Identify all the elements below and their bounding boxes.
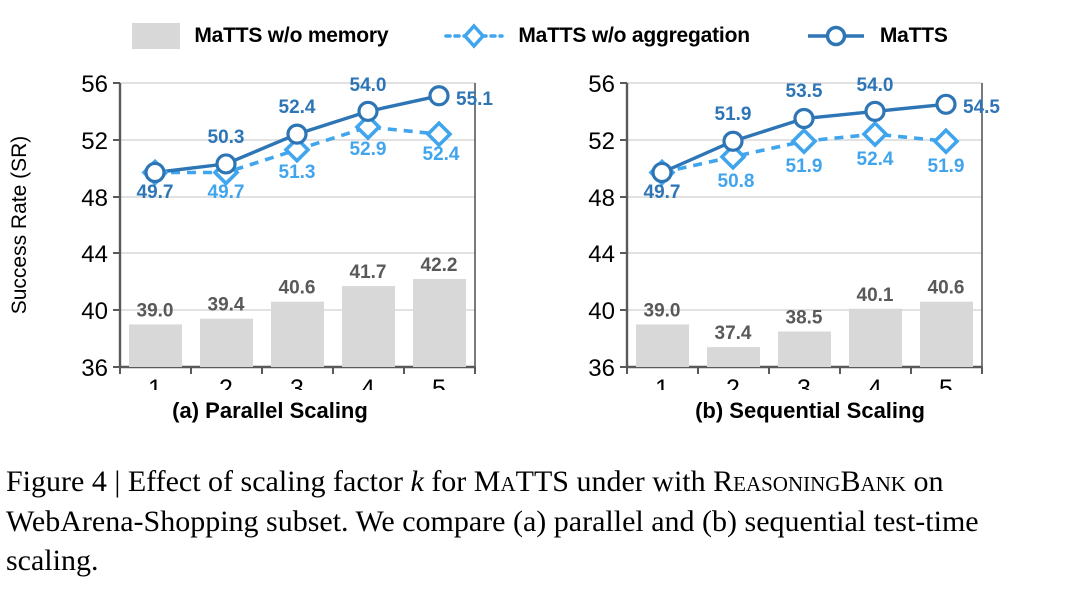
y-tick-48-a: 48 — [81, 185, 108, 212]
diamond-k5-a — [428, 123, 450, 145]
circle-k1-b — [653, 163, 671, 181]
bar-k1-b — [636, 324, 689, 367]
y-tick-40-b: 40 — [588, 298, 615, 325]
x-tick-2-a: 2 — [219, 375, 233, 390]
bar-label-k3-a: 40.6 — [279, 278, 316, 299]
legend-item-matts: MaTTS — [806, 23, 948, 49]
label-matts-k5-b: 54.5 — [963, 97, 1000, 118]
bar-k3-a — [271, 302, 324, 367]
label-matts-k2-a: 50.3 — [208, 127, 245, 148]
diamond-dashed-line-icon — [444, 23, 504, 49]
label-agg-k3-b: 51.9 — [786, 156, 823, 177]
figure-page: MaTTS w/o memory MaTTS w/o aggregation M… — [0, 0, 1080, 614]
legend-item-matts-wo-aggregation: MaTTS w/o aggregation — [444, 23, 749, 49]
x-tick-1-b: 1 — [655, 375, 669, 390]
bar-label-k4-b: 40.1 — [857, 285, 894, 306]
x-tick-4-a: 4 — [361, 375, 375, 390]
y-tick-48-b: 48 — [588, 185, 615, 212]
y-tick-44-b: 44 — [588, 241, 615, 268]
caption-k-variable: k — [410, 465, 423, 498]
bar-label-k5-a: 42.2 — [421, 255, 458, 276]
label-matts-k1-b: 49.7 — [644, 182, 681, 203]
label-agg-k2-b: 50.8 — [718, 171, 755, 192]
circle-k5-b — [937, 95, 955, 113]
circle-k3-a — [288, 125, 306, 143]
x-tick-5-a: 5 — [432, 375, 446, 390]
bar-swatch-icon — [132, 23, 180, 49]
x-tick-labels-a: 1 2 3 4 5 — [148, 375, 446, 390]
y-tick-36-a: 36 — [81, 355, 108, 382]
circle-k5-a — [430, 87, 448, 105]
subplot-title-a: (a) Parallel Scaling — [0, 398, 540, 424]
bar-label-k4-a: 41.7 — [350, 262, 387, 283]
y-tick-56-a: 56 — [81, 71, 108, 98]
label-matts-k3-b: 53.5 — [786, 81, 823, 102]
x-tick-3-a: 3 — [290, 375, 304, 390]
label-agg-k4-b: 52.4 — [857, 149, 894, 170]
line-labels-agg-a: 49.7 51.3 52.9 52.4 — [208, 139, 460, 203]
label-matts-k2-b: 51.9 — [715, 104, 752, 125]
circle-k4-b — [866, 102, 884, 120]
subplot-title-b: (b) Sequential Scaling — [540, 398, 1080, 424]
y-axis-title-a: Success Rate (SR) — [8, 136, 31, 315]
bar-label-k5-b: 40.6 — [928, 278, 965, 299]
circle-k3-b — [795, 110, 813, 128]
label-matts-k4-a: 54.0 — [350, 75, 387, 96]
bar-label-k3-b: 38.5 — [786, 308, 823, 329]
chart-b-canvas: 56 52 48 44 40 36 — [540, 60, 1080, 390]
label-matts-k3-a: 52.4 — [279, 97, 316, 118]
chart-sequential-scaling: 56 52 48 44 40 36 — [540, 60, 1080, 390]
legend-label-matts: MaTTS — [880, 24, 948, 48]
bar-label-k2-a: 39.4 — [208, 295, 245, 316]
bar-k2-b — [707, 347, 760, 367]
caption-matts: MaTTS — [474, 465, 569, 498]
x-tick-5-b: 5 — [939, 375, 953, 390]
bar-label-k2-b: 37.4 — [715, 323, 752, 344]
label-agg-k5-b: 51.9 — [928, 156, 965, 177]
bar-k3-b — [778, 332, 831, 368]
x-tick-1-a: 1 — [148, 375, 162, 390]
x-tick-2-b: 2 — [726, 375, 740, 390]
caption-prefix: Figure 4 | Effect of scaling factor — [6, 465, 410, 498]
line-labels-agg-b: 50.8 51.9 52.4 51.9 — [718, 149, 965, 192]
chart-parallel-scaling: Success Rate (SR) 56 52 48 44 40 — [0, 60, 540, 390]
legend-item-matts-wo-memory: MaTTS w/o memory — [132, 23, 388, 49]
legend-label-matts-wo-aggregation: MaTTS w/o aggregation — [518, 24, 749, 48]
y-tick-44-a: 44 — [81, 241, 108, 268]
label-matts-k5-a: 55.1 — [456, 89, 493, 110]
caption-reasoningbank: ReasoningBank — [713, 465, 906, 498]
diamond-k4-b — [864, 123, 886, 145]
bar-k5-b — [920, 302, 973, 367]
label-matts-k1-a: 49.7 — [137, 182, 174, 203]
circle-k4-a — [359, 102, 377, 120]
chart-a-canvas: Success Rate (SR) 56 52 48 44 40 — [0, 60, 540, 390]
x-tick-3-b: 3 — [797, 375, 811, 390]
bar-k5-a — [413, 279, 466, 367]
label-agg-k3-a: 51.3 — [279, 162, 316, 183]
bar-k2-a — [200, 319, 253, 367]
x-tick-labels-b: 1 2 3 4 5 — [655, 375, 953, 390]
caption-mid1: for — [424, 465, 474, 498]
y-tick-52-b: 52 — [588, 128, 615, 155]
y-tick-40-a: 40 — [81, 298, 108, 325]
diamond-k3-b — [793, 130, 815, 152]
bar-k4-a — [342, 286, 395, 367]
circle-k2-b — [724, 132, 742, 150]
circle-solid-line-icon — [806, 23, 866, 49]
bar-label-k1-a: 39.0 — [137, 300, 174, 321]
bar-k1-a — [129, 324, 182, 367]
diamond-k5-b — [935, 130, 957, 152]
label-agg-k4-a: 52.9 — [350, 139, 387, 160]
caption-mid2: under with — [569, 465, 713, 498]
circle-k2-a — [217, 155, 235, 173]
chart-legend: MaTTS w/o memory MaTTS w/o aggregation M… — [0, 14, 1080, 58]
circle-k1-a — [146, 163, 164, 181]
y-tick-52-a: 52 — [81, 128, 108, 155]
legend-label-matts-wo-memory: MaTTS w/o memory — [194, 24, 388, 48]
figure-caption: Figure 4 | Effect of scaling factor k fo… — [6, 462, 1072, 581]
y-tick-56-b: 56 — [588, 71, 615, 98]
label-agg-k2-a: 49.7 — [208, 182, 245, 203]
y-tick-36-b: 36 — [588, 355, 615, 382]
label-matts-k4-b: 54.0 — [857, 75, 894, 96]
bar-k4-b — [849, 309, 902, 367]
x-tick-4-b: 4 — [868, 375, 882, 390]
label-agg-k5-a: 52.4 — [423, 144, 460, 165]
bar-label-k1-b: 39.0 — [644, 300, 681, 321]
